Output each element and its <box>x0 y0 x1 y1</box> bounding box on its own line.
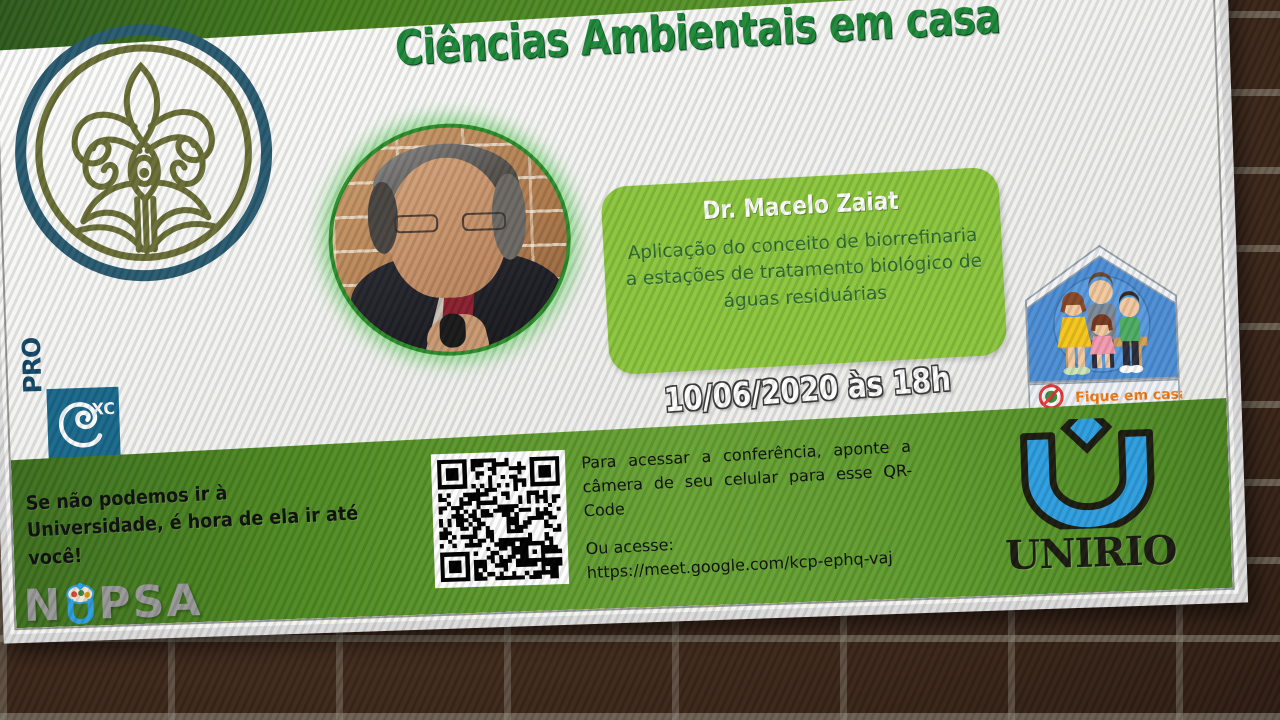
nupsa-text-right: PSA <box>98 575 204 629</box>
photo-glasses <box>394 212 507 234</box>
poster: Ciências Ambientais em casa Dr. Macelo <box>0 0 1248 644</box>
nupsa-logo: N PSA <box>23 575 203 630</box>
talk-info-box: Dr. Macelo Zaiat Aplicação do conceito d… <box>600 167 1007 376</box>
access-or-label: Ou acesse: <box>585 535 674 558</box>
poster-white-border: Ciências Ambientais em casa Dr. Macelo <box>0 0 1239 634</box>
proexc-xc-text: XC <box>91 399 115 419</box>
access-alt-block: Ou acesse: https://meet.google.com/kcp-e… <box>585 521 917 586</box>
talk-title: Aplicação do conceito de biorrefinaria a… <box>619 222 989 320</box>
proexc-pro-text: PRO <box>17 337 48 394</box>
unirio-u-icon-large <box>1001 416 1175 532</box>
photo-microphone <box>439 313 466 348</box>
slogan: Se não podemos ir à Universidade, é hora… <box>25 472 362 571</box>
unirio-logo: UNIRIO <box>1001 416 1176 582</box>
qr-code[interactable] <box>431 450 569 588</box>
speaker-photo <box>325 120 575 360</box>
nupsa-text-left: N <box>23 580 63 631</box>
speaker-name-row: Dr. Macelo Zaiat <box>617 181 984 229</box>
proexc-square: XC <box>46 387 120 461</box>
unirio-wordmark: UNIRIO <box>1005 527 1176 580</box>
access-instructions: Para acessar a conferência, aponte a câm… <box>581 435 917 586</box>
footer-band: Se não podemos ir à Universidade, é hora… <box>10 398 1233 628</box>
no-virus-icon <box>1040 385 1063 408</box>
brick-wall-background: Ciências Ambientais em casa Dr. Macelo <box>0 0 1280 720</box>
speaker-name: Dr. Macelo Zaiat <box>702 186 899 225</box>
access-instruction-text: Para acessar a conferência, aponte a câm… <box>581 435 914 524</box>
nupsa-u-icon <box>60 582 101 627</box>
poster-canvas: Ciências Ambientais em casa Dr. Macelo <box>0 0 1235 630</box>
stay-home-graphic: Fique em casa <box>1022 240 1183 415</box>
tree-of-life-logo <box>8 17 279 288</box>
